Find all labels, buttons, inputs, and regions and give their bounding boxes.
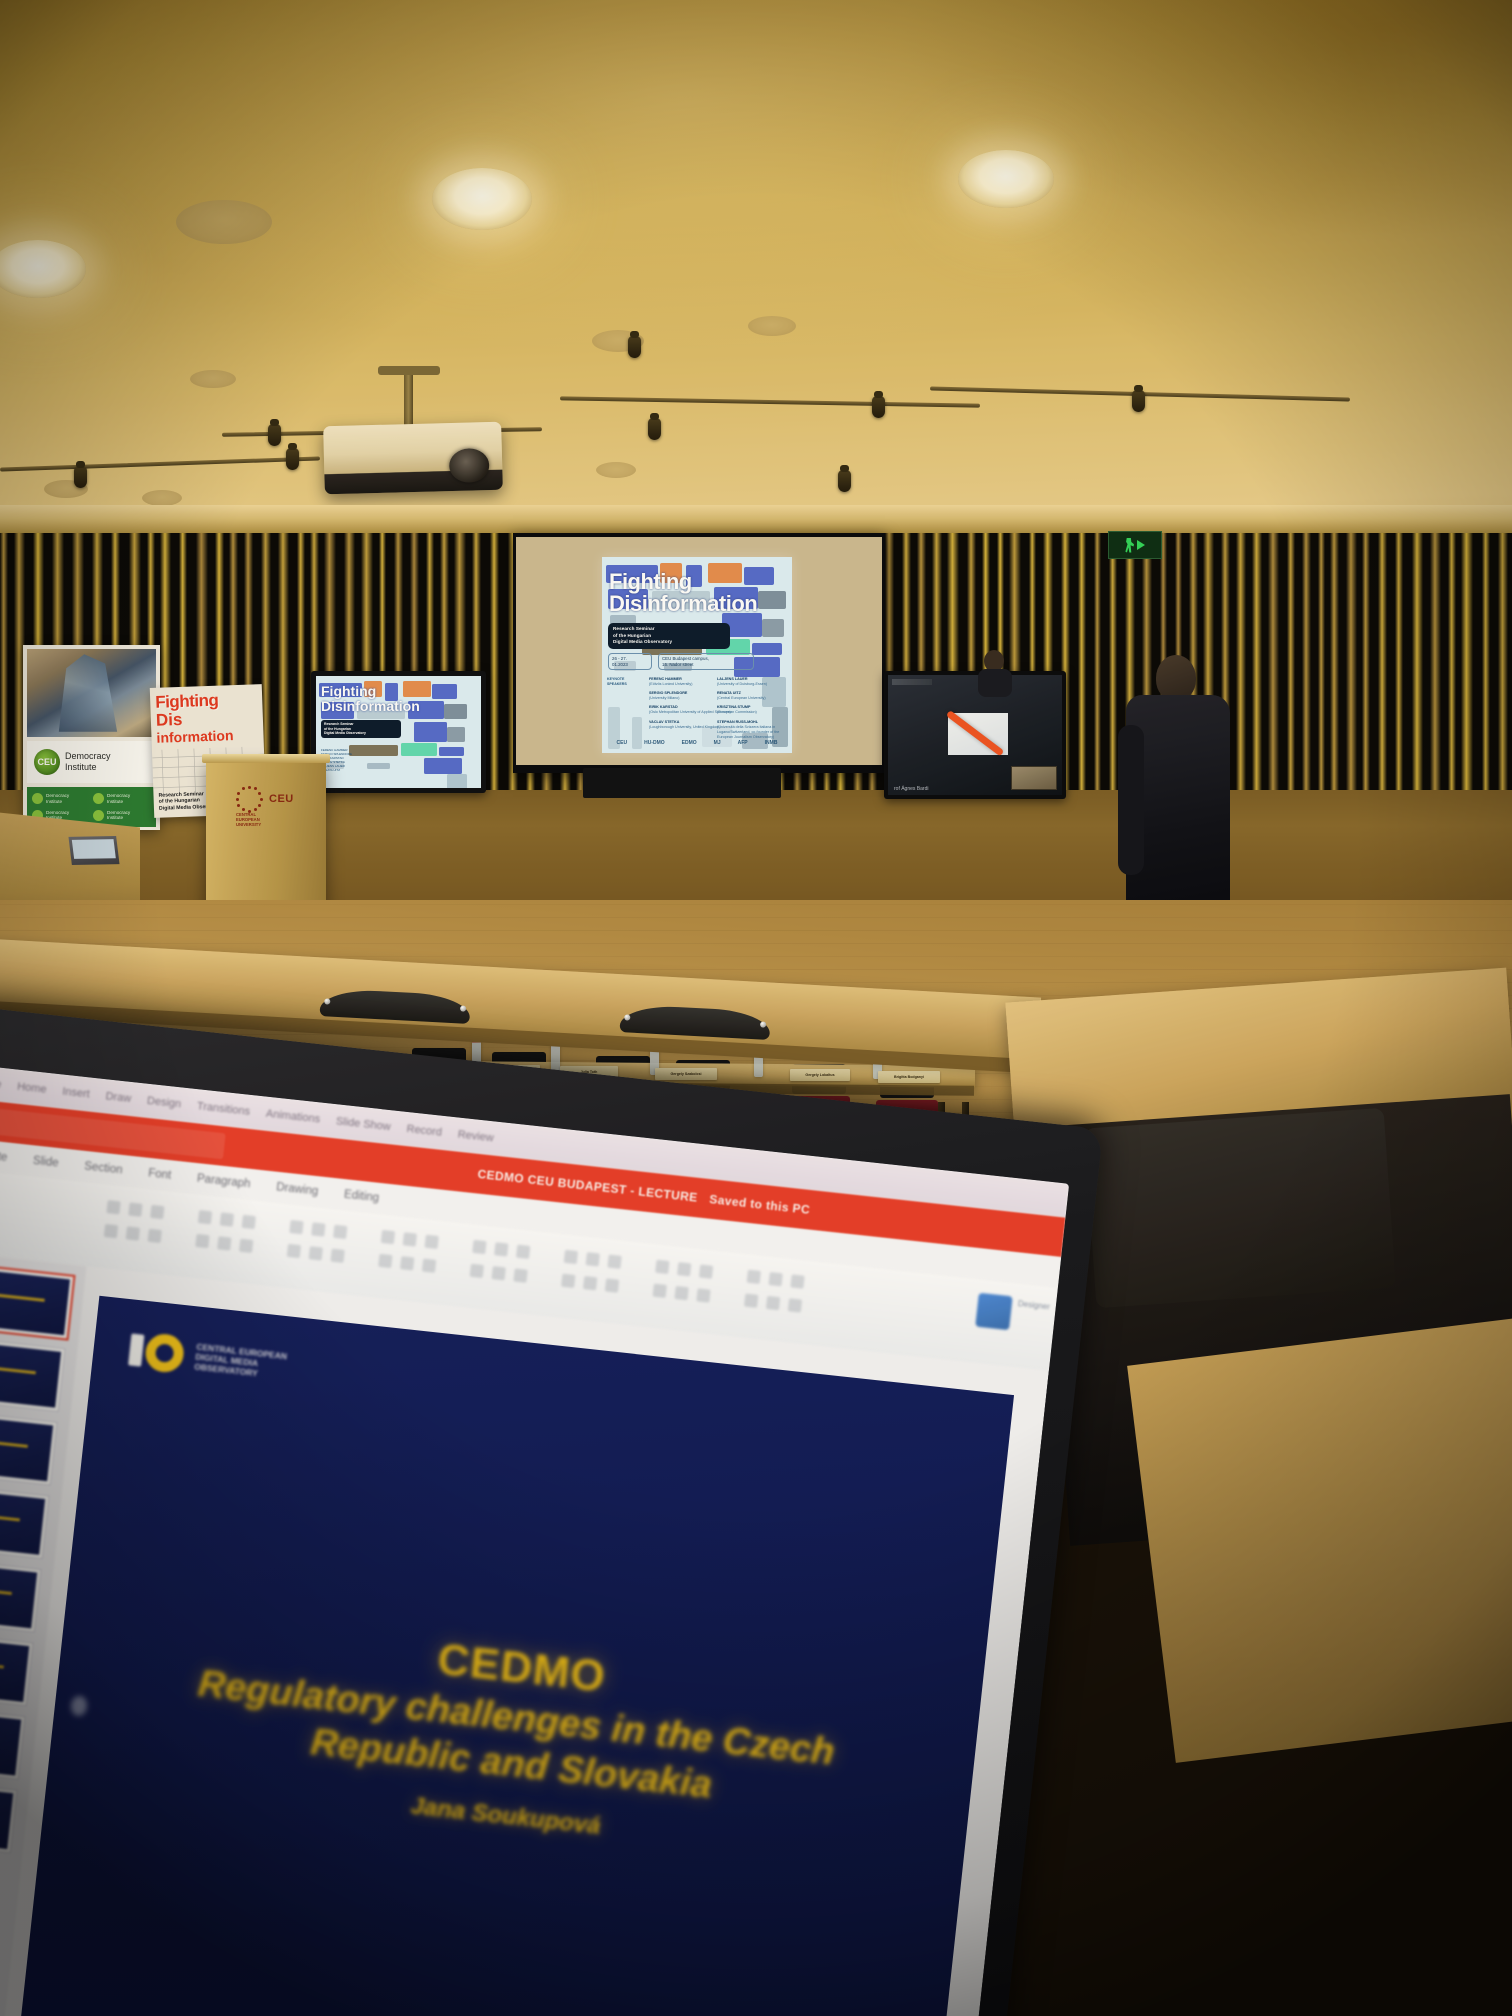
spotlight	[648, 418, 661, 440]
exit-arrow-icon	[1137, 540, 1145, 550]
podium-ceu-subtitle: CENTRAL EUROPEAN UNIVERSITY	[236, 812, 261, 827]
ceiling-vent	[596, 462, 636, 478]
ribbon-tool-icon[interactable]	[330, 1249, 344, 1263]
name-card: Gergely Lokaltus	[790, 1069, 850, 1081]
ribbon-group-label[interactable]: Section	[84, 1160, 123, 1176]
side-desk-laptop	[68, 836, 119, 865]
speaker-affiliation: (Central European University)	[717, 696, 787, 701]
floorboard-line	[0, 930, 1512, 931]
ceu-logo-icon: CEU	[34, 749, 60, 775]
spotlight	[74, 466, 87, 488]
ceiling-vent	[748, 316, 796, 336]
menu-item[interactable]: Insert	[62, 1086, 91, 1101]
rollup-line1: Fighting	[155, 692, 219, 711]
slide-thumbnail[interactable]	[0, 1631, 34, 1707]
ribbon-tool-icon[interactable]	[150, 1205, 164, 1219]
save-status: Saved to this PC	[709, 1192, 811, 1217]
ribbon-tool-icon[interactable]	[104, 1224, 118, 1238]
ribbon-tool-icon[interactable]	[195, 1234, 209, 1248]
ceiling-downlight	[958, 150, 1054, 208]
menu-item[interactable]: Home	[17, 1081, 47, 1096]
speaker-entry: LALJENS LAUER(University of Duisburg-Ess…	[717, 677, 787, 687]
slide-shape	[401, 743, 437, 756]
ceiling-vent	[142, 490, 182, 506]
eu-stars-icon	[234, 784, 264, 814]
ribbon-tool-icon[interactable]	[766, 1296, 780, 1310]
slide-thumbnail[interactable]	[0, 1337, 66, 1413]
projector-lens	[449, 448, 490, 483]
slide-shape	[424, 758, 462, 774]
slide-badge-line2: of the Hungarian	[613, 633, 725, 640]
name-card-text: Brigitta Bodganyi	[894, 1075, 924, 1079]
slide-title-line2: Disinformation	[609, 591, 757, 617]
ribbon-tool-icon[interactable]	[696, 1288, 710, 1302]
slide-badge-line3: Digital Media Observatory	[613, 639, 725, 646]
ribbon-tool-icon[interactable]	[239, 1239, 253, 1253]
ribbon-tool-icon[interactable]	[311, 1222, 325, 1236]
designer-icon[interactable]	[975, 1293, 1012, 1330]
ceiling-soffit	[0, 505, 1512, 535]
ribbon-tool-icon[interactable]	[220, 1212, 234, 1226]
lectern-podium: CEU CENTRAL EUROPEAN UNIVERSITY	[206, 760, 326, 920]
slide-shape	[447, 774, 467, 788]
ceiling-downlight	[432, 168, 532, 230]
banner-logo-text: Democracy Institute	[65, 751, 111, 773]
slide-badge: Research Seminar of the Hungarian Digita…	[608, 623, 730, 649]
ribbon-tool-icon[interactable]	[607, 1255, 621, 1269]
banner-tile: DemocracyInstitute	[32, 792, 90, 806]
partner-logo: HU-DMO	[644, 740, 665, 746]
name-card-text: Gergely Lokaltus	[805, 1073, 834, 1077]
speaker-affiliation: (European Commission)	[717, 710, 787, 715]
banner-logo-bar: CEU Democracy Institute	[27, 741, 156, 783]
slide-shape	[367, 763, 390, 770]
slide-thumbnail[interactable]	[0, 1778, 18, 1854]
ribbon-tool-icon[interactable]	[242, 1215, 256, 1229]
right-tv-screen: rof Ágnes Bardi	[888, 675, 1062, 795]
speakers-label: SPEAKERS	[607, 682, 627, 687]
ribbon-tool-icon[interactable]	[653, 1284, 667, 1298]
slide-shape	[432, 684, 457, 699]
banner-line1: Democracy	[65, 751, 111, 762]
slide-date: 26 - 27. 01.2023	[608, 653, 652, 670]
slide-badge-line1: Research Seminar	[613, 626, 725, 633]
slide-lens-flare	[70, 1695, 88, 1717]
menu-item[interactable]: Review	[457, 1129, 494, 1145]
projector-mount-pole	[404, 372, 413, 430]
slide-thumbnail[interactable]	[0, 1410, 58, 1486]
slide-shape	[708, 563, 742, 583]
participant-thumbnail	[1011, 766, 1057, 790]
ribbon-group-label[interactable]: Paste	[0, 1149, 8, 1164]
left-tv-title-line2: Disinformation	[321, 698, 420, 714]
ribbon-tool-icon[interactable]	[289, 1220, 303, 1234]
screen-lower-monitor	[583, 768, 781, 798]
rollup-line2: Dis	[156, 711, 183, 729]
slide-thumbnail[interactable]	[0, 1263, 76, 1341]
ribbon-tool-icon[interactable]	[747, 1270, 761, 1284]
banner-tile: DemocracyInstitute	[93, 809, 151, 823]
slide-location: CEU Budapest campus, 15. Nador street	[658, 653, 754, 670]
ribbon-tool-icon[interactable]	[381, 1230, 395, 1244]
speakers-column-right: LALJENS LAUER(University of Duisburg-Ess…	[717, 677, 787, 744]
menu-item[interactable]: Record	[406, 1123, 443, 1139]
ribbon-tool-icon[interactable]	[333, 1225, 347, 1239]
rollup-line3: information	[156, 728, 233, 745]
ribbon-tool-icon[interactable]	[287, 1244, 301, 1258]
ceu-logo-icon	[32, 793, 43, 804]
ribbon-tool-icon[interactable]	[198, 1210, 212, 1224]
slide-shape	[762, 619, 784, 637]
banner-tile-text: DemocracyInstitute	[46, 793, 69, 804]
right-tv-display[interactable]: rof Ágnes Bardi	[884, 671, 1066, 799]
ceu-democracy-institute-banner: CEU Democracy Institute DemocracyInstitu…	[23, 645, 160, 830]
floorboard-line	[0, 917, 1512, 918]
ribbon-tool-icon[interactable]	[126, 1226, 140, 1240]
cedmo-logo: CENTRAL EUROPEAN DIGITAL MEDIA OBSERVATO…	[127, 1327, 288, 1388]
exit-sign	[1108, 531, 1162, 559]
projector-mount-plate	[378, 366, 440, 375]
ribbon-tool-icon[interactable]	[378, 1254, 392, 1268]
ribbon-tool-icon[interactable]	[605, 1278, 619, 1292]
ribbon-tool-icon[interactable]	[790, 1274, 804, 1288]
name-card-text: Gergely Szabolcsi	[671, 1072, 702, 1076]
ribbon-tool-icon[interactable]	[148, 1229, 162, 1243]
left-tv-badge-line3: Digital Media Observatory	[324, 731, 398, 736]
left-tv-display: Fighting Disinformation Research Seminar…	[311, 671, 486, 793]
ribbon-tool-icon[interactable]	[583, 1276, 597, 1290]
speaker-entry: RENATA UITZ(Central European University)	[717, 691, 787, 701]
ribbon-tool-icon[interactable]	[674, 1286, 688, 1300]
ceiling-vent	[176, 200, 272, 244]
laptop-screen[interactable]: FileHomeInsertDrawDesignTransitionsAnima…	[0, 1065, 1069, 2016]
name-card: Brigitta Bodganyi	[878, 1071, 940, 1083]
partner-logo: INMB	[765, 740, 778, 746]
laptop-lid: FileHomeInsertDrawDesignTransitionsAnima…	[0, 1005, 1103, 2016]
slide-shape	[439, 747, 464, 757]
projection-screen-surface: Fighting Disinformation Research Seminar…	[516, 537, 882, 765]
ribbon-tool-icon[interactable]	[677, 1262, 691, 1276]
ribbon-tool-icon[interactable]	[768, 1272, 782, 1286]
slide-thumbnail[interactable]	[0, 1704, 26, 1780]
foreground-laptop[interactable]: FileHomeInsertDrawDesignTransitionsAnima…	[0, 1005, 1113, 2016]
conference-room-photo: Fighting Disinformation Research Seminar…	[0, 0, 1512, 2016]
person-arm	[1118, 725, 1144, 875]
cedmo-slide[interactable]: CENTRAL EUROPEAN DIGITAL MEDIA OBSERVATO…	[19, 1296, 1014, 2016]
slide-shape	[403, 681, 431, 697]
menu-item[interactable]: Design	[146, 1095, 181, 1111]
running-man-icon	[1125, 538, 1134, 553]
banner-photograph	[27, 649, 156, 737]
ribbon-tool-icon[interactable]	[513, 1268, 527, 1282]
ribbon-group-label[interactable]: Drawing	[276, 1181, 319, 1197]
ribbon-tool-icon[interactable]	[744, 1294, 758, 1308]
spotlight	[838, 470, 851, 492]
floorboard-line	[0, 943, 1512, 944]
menu-item[interactable]: Transitions	[196, 1100, 250, 1118]
ribbon-tool-icon[interactable]	[586, 1252, 600, 1266]
ribbon-group-label[interactable]: Editing	[343, 1189, 379, 1205]
projected-slide: Fighting Disinformation Research Seminar…	[602, 557, 792, 753]
menu-item[interactable]: Slide Show	[335, 1115, 391, 1133]
ribbon-group-label[interactable]: Slide	[32, 1155, 59, 1170]
ribbon-group-label[interactable]: Paragraph	[196, 1173, 251, 1191]
partner-logo: MJ	[714, 740, 721, 746]
projection-screen-frame: Fighting Disinformation Research Seminar…	[513, 533, 885, 773]
slide-footer-logos: CEUHU-DMOEDMOMJAFPINMB	[608, 737, 786, 749]
slide-shape	[447, 727, 465, 742]
speaker-affiliation: (University of Duisburg-Essen)	[717, 682, 787, 687]
ribbon-tool-icon[interactable]	[494, 1242, 508, 1256]
slide-shape	[349, 745, 398, 756]
ribbon-tool-icon[interactable]	[470, 1264, 484, 1278]
slide-speakers-heading: KEYNOTE SPEAKERS	[607, 677, 627, 687]
floorboard-line	[0, 904, 1512, 905]
ceiling-vent	[190, 370, 236, 388]
ceu-logo-icon	[93, 793, 104, 804]
menu-item[interactable]: Draw	[105, 1090, 132, 1105]
menu-item[interactable]: Animations	[265, 1108, 320, 1126]
ribbon-tool-icon[interactable]	[655, 1260, 669, 1274]
partner-logo: AFP	[738, 740, 748, 746]
ribbon-tool-icon[interactable]	[516, 1245, 530, 1259]
slide-shape	[414, 722, 447, 742]
spotlight	[286, 448, 299, 470]
right-side-chair-block	[1084, 1108, 1396, 1308]
podium-sub-line3: UNIVERSITY	[236, 822, 261, 827]
name-card: Gergely Szabolcsi	[655, 1068, 717, 1080]
ribbon-tool-icon[interactable]	[309, 1246, 323, 1260]
ribbon-tool-icon[interactable]	[699, 1264, 713, 1278]
ribbon-tool-icon[interactable]	[403, 1232, 417, 1246]
ribbon-tool-icon[interactable]	[217, 1236, 231, 1250]
ribbon-tool-icon[interactable]	[128, 1202, 142, 1216]
podium-ceu-text: CEU	[269, 793, 294, 805]
ribbon-tool-icon[interactable]	[564, 1250, 578, 1264]
banner-tile: DemocracyInstitute	[93, 792, 151, 806]
ribbon-tool-icon[interactable]	[561, 1274, 575, 1288]
ribbon-tool-icon[interactable]	[788, 1298, 802, 1312]
ceu-logo-icon	[93, 810, 104, 821]
speaker-entry: KRISZTINA STUMP(European Commission)	[717, 705, 787, 715]
podium-ceu-logo: CEU	[234, 782, 298, 816]
banner-tile-text: DemocracyInstitute	[107, 810, 130, 821]
slide-thumbnail[interactable]	[0, 1484, 50, 1560]
menu-item[interactable]: File	[0, 1077, 2, 1091]
ribbon-tool-icon[interactable]	[106, 1200, 120, 1214]
spotlight	[268, 424, 281, 446]
spotlight	[872, 396, 885, 418]
ceiling-projector	[323, 422, 503, 495]
ribbon-tool-icon[interactable]	[400, 1256, 414, 1270]
spotlight	[1132, 390, 1145, 412]
participant-name-label: rof Ágnes Bardi	[894, 786, 928, 792]
partner-logo: CEU	[617, 740, 628, 746]
slide-meta: 26 - 27. 01.2023 CEU Budapest campus, 15…	[608, 653, 758, 671]
powerpoint-window[interactable]: FileHomeInsertDrawDesignTransitionsAnima…	[0, 1065, 1069, 2016]
video-window-toolbar	[892, 679, 932, 685]
podium-top	[202, 754, 330, 763]
ribbon-tool-icon[interactable]	[472, 1240, 486, 1254]
ribbon-group-label[interactable]: Font	[148, 1167, 172, 1181]
right-foreground-desk	[1127, 1317, 1512, 1763]
partner-logo: EDMO	[682, 740, 697, 746]
slide-thumbnail[interactable]	[0, 1557, 42, 1633]
left-tv-screen: Fighting Disinformation Research Seminar…	[316, 676, 481, 788]
cedmo-logo-wordmark: CENTRAL EUROPEAN DIGITAL MEDIA OBSERVATO…	[194, 1342, 288, 1382]
banner-line2: Institute	[65, 762, 111, 773]
camera-off-icon	[948, 713, 1008, 755]
person-seated-background	[978, 650, 1012, 696]
slide-shape	[758, 591, 786, 609]
ribbon-tool-icon[interactable]	[425, 1235, 439, 1249]
spotlight	[628, 336, 641, 358]
cedmo-logo-mark-icon	[127, 1327, 187, 1377]
ribbon-tool-icon[interactable]	[422, 1259, 436, 1273]
banner-tile-text: DemocracyInstitute	[107, 793, 130, 804]
left-tv-title-line1: Fighting	[321, 683, 376, 699]
slide-shape	[444, 704, 467, 719]
slide-shape	[744, 567, 774, 585]
ribbon-tool-icon[interactable]	[492, 1266, 506, 1280]
